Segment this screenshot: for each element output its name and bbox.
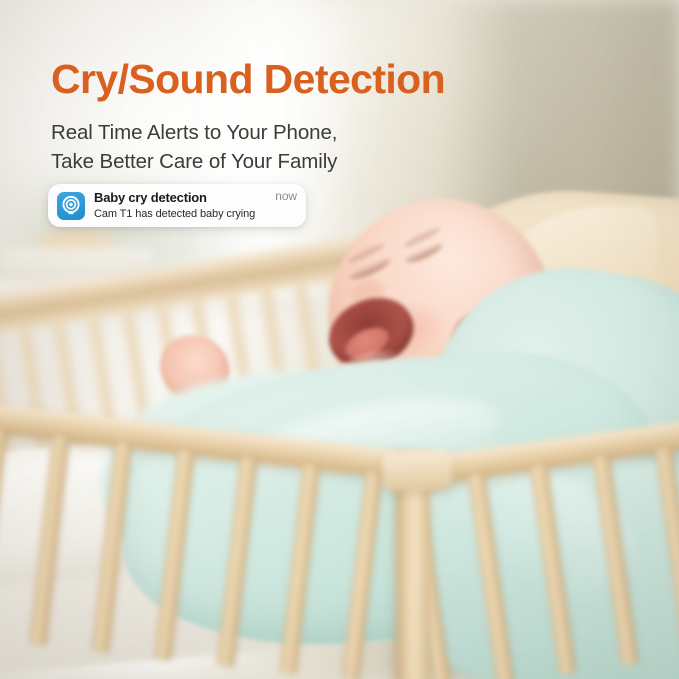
notification-body: Cam T1 has detected baby crying — [94, 207, 269, 221]
notification-text: Baby cry detection Cam T1 has detected b… — [94, 190, 269, 222]
notification-title: Baby cry detection — [94, 190, 269, 206]
page-title: Cry/Sound Detection — [51, 57, 445, 103]
notification-timestamp: now — [275, 189, 297, 203]
page-subtitle-line-2: Take Better Care of Your Family — [51, 147, 337, 176]
camera-icon — [57, 192, 85, 220]
text-overlay: Cry/Sound Detection Real Time Alerts to … — [0, 0, 679, 679]
product-feature-poster: Cry/Sound Detection Real Time Alerts to … — [0, 0, 679, 679]
notification-card[interactable]: Baby cry detection Cam T1 has detected b… — [48, 184, 306, 227]
page-subtitle-line-1: Real Time Alerts to Your Phone, — [51, 118, 337, 147]
page-subtitle: Real Time Alerts to Your Phone, Take Bet… — [51, 118, 337, 176]
